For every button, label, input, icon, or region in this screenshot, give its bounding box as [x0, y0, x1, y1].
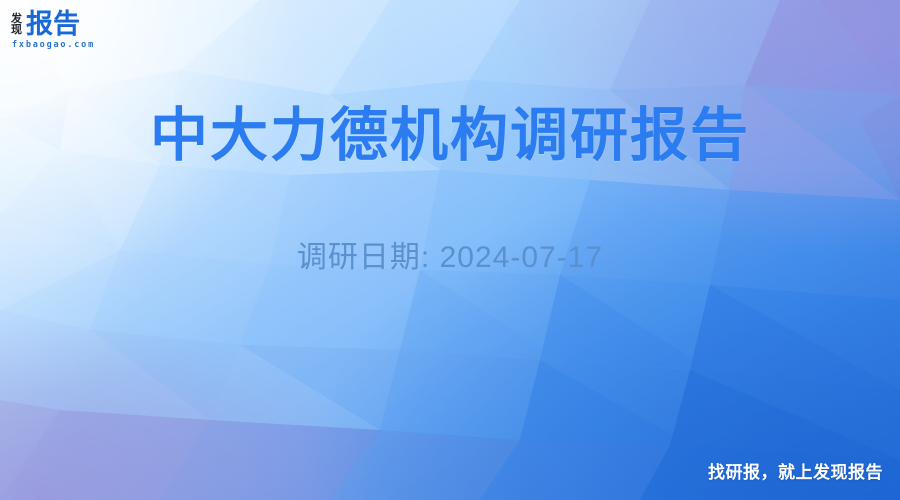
footer-tagline: 找研报，就上发现报告 — [708, 458, 883, 483]
logo-mark-line-2: 现 — [11, 25, 22, 36]
logo-domain: fxbaogao.com — [12, 40, 95, 50]
logo-wordmark: 报告 — [26, 11, 80, 38]
logo-mark: 发 现 — [11, 14, 22, 38]
report-cover: 发 现 报告 fxbaogao.com 中大力德机构调研报告 调研日期: 202… — [0, 0, 900, 500]
site-logo[interactable]: 发 现 报告 fxbaogao.com — [11, 10, 121, 54]
logo-row: 发 现 报告 — [11, 10, 80, 38]
low-poly-background — [0, 0, 900, 500]
